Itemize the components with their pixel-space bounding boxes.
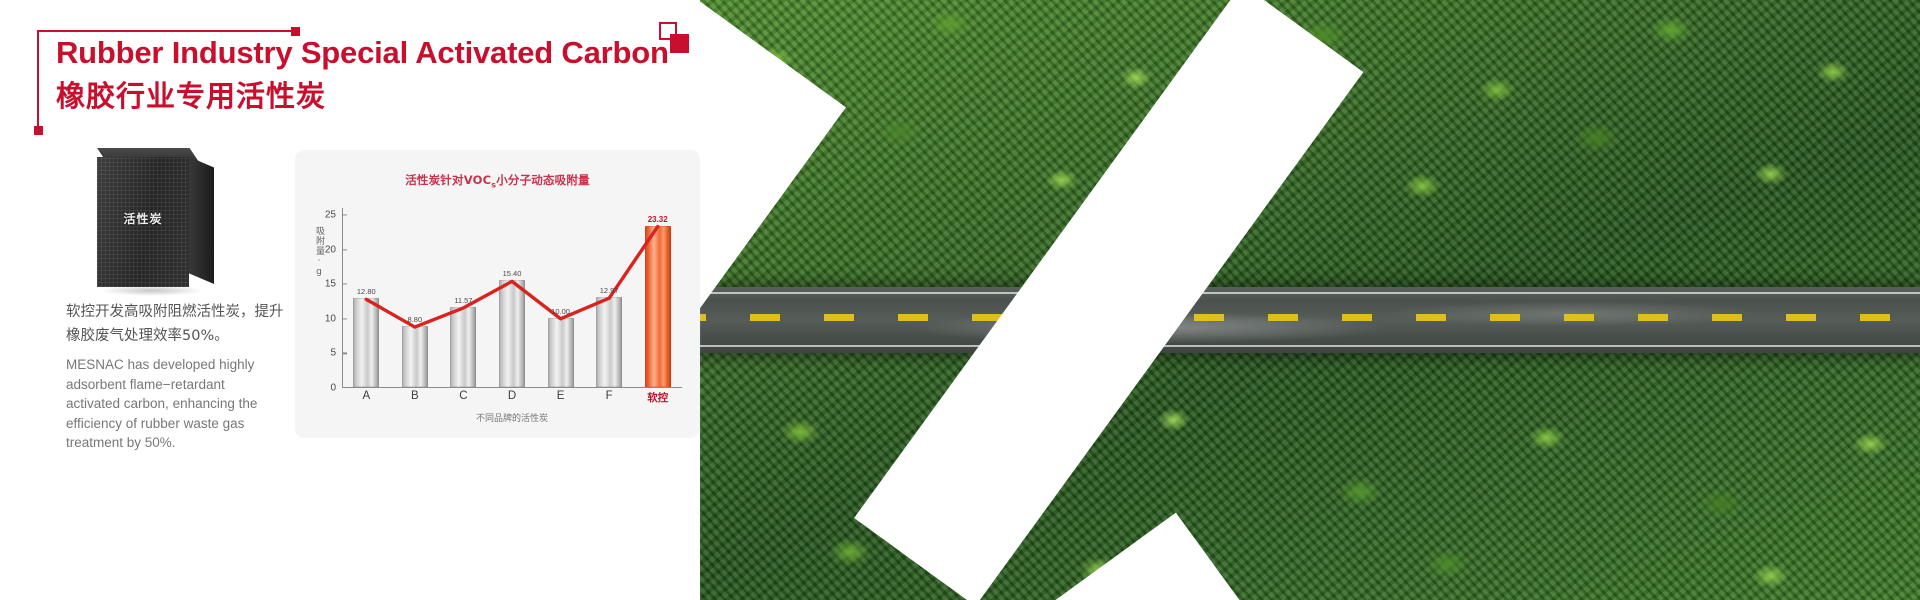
y-tick-label: 15 [316, 279, 336, 290]
bar-value-label: 12.80 [357, 287, 376, 296]
y-tick-label: 20 [316, 244, 336, 255]
logo-filled-square [670, 34, 689, 53]
aerial-forest-road-photo [676, 0, 1920, 600]
y-tick-label: 0 [316, 383, 336, 394]
x-category-label: F [606, 390, 613, 402]
plot-area: 0510152025 12.808.8011.5715.4010.0012.97… [342, 208, 682, 388]
mesnac-square-logo-icon [659, 22, 695, 56]
bar-value-label: 12.97 [600, 286, 619, 295]
bar-value-label: 11.57 [454, 296, 472, 305]
x-category-label: A [362, 390, 370, 402]
chart-title-main: 活性炭针对VOC [405, 173, 491, 187]
x-category-label: E [557, 390, 565, 402]
road-center-dashes [676, 314, 1920, 321]
x-category-label: C [459, 390, 467, 402]
chart-title-tail: 小分子动态吸附量 [496, 173, 590, 187]
bar-value-label: 10.00 [551, 307, 570, 316]
description-english: MESNAC has developed highly adsorbent fl… [66, 355, 271, 453]
banner-root: Rubber Industry Special Activated Carbon… [0, 0, 1920, 600]
activated-carbon-block-image: 活性炭 [86, 148, 214, 296]
bar-value-label: 15.40 [503, 269, 522, 278]
x-category-label: 软控 [647, 390, 668, 405]
y-tick-label: 10 [316, 313, 336, 324]
x-category-label: D [508, 390, 516, 402]
y-tick-label: 5 [316, 348, 336, 359]
x-category-label: B [411, 390, 419, 402]
carbon-block-label: 活性炭 [97, 210, 189, 227]
page-title-english: Rubber Industry Special Activated Carbon [56, 36, 669, 70]
bar-value-label: 23.32 [648, 215, 668, 224]
chart-card: 活性炭针对VOCs小分子动态吸附量 吸附量·g 0510152025 12.80… [295, 150, 700, 438]
trend-line-series [342, 208, 682, 388]
left-content-panel: Rubber Industry Special Activated Carbon… [0, 0, 700, 600]
carbon-block-shadow [100, 287, 204, 296]
description-chinese: 软控开发高吸附阻燃活性炭，提升橡胶废气处理效率50%。 [66, 300, 286, 348]
carbon-block-side-face [187, 156, 214, 284]
bar-value-label: 8.80 [408, 315, 423, 324]
y-tick-label: 25 [316, 209, 336, 220]
page-title-chinese: 橡胶行业专用活性炭 [56, 79, 326, 113]
chart-title: 活性炭针对VOCs小分子动态吸附量 [295, 172, 700, 189]
x-axis-title: 不同品牌的活性炭 [342, 411, 682, 424]
